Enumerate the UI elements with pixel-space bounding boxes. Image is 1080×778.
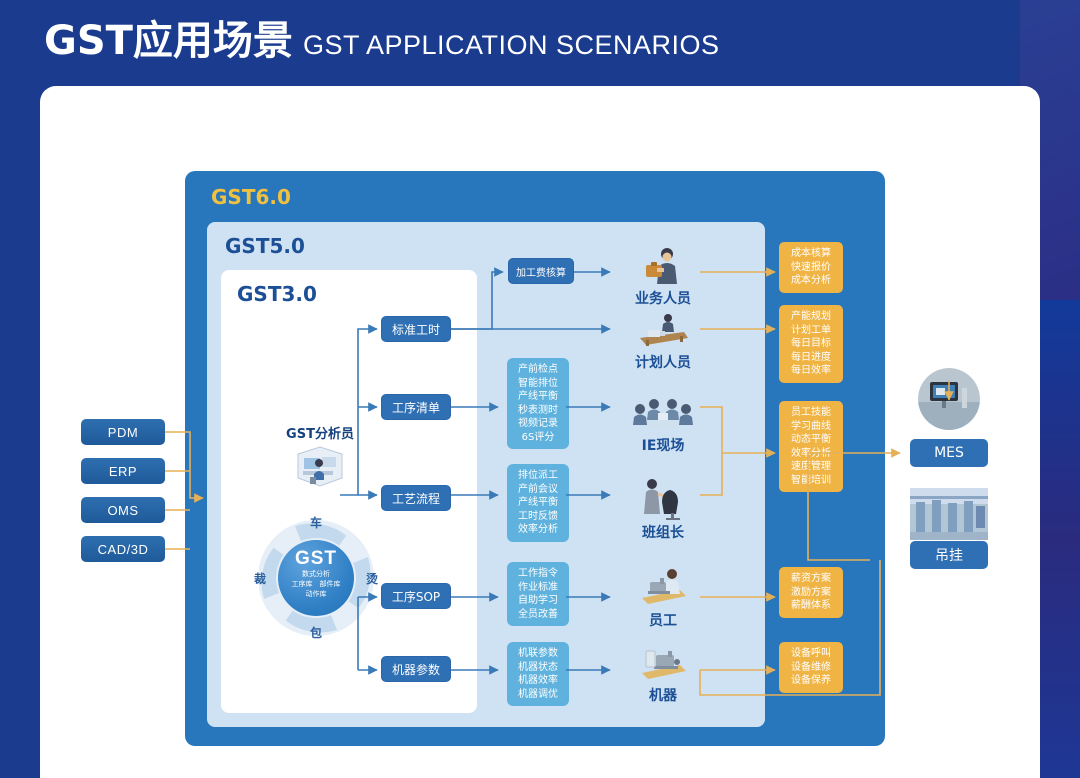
process-box-label: 加工费核算 <box>516 264 566 279</box>
output-box-cost[interactable]: 成本核算 快速报价 成本分析 <box>779 242 843 293</box>
panel-gst50-title: GST5.0 <box>225 234 305 258</box>
role-machine[interactable]: 机器 <box>618 641 708 705</box>
process-box-sop[interactable]: 工序SOP <box>381 583 451 609</box>
role-label: 业务人员 <box>618 288 708 308</box>
source-box-cad3d[interactable]: CAD/3D <box>81 536 165 562</box>
output-line: 快速报价 <box>781 261 841 275</box>
page-header: GST应用场景 GST APPLICATION SCENARIOS <box>44 8 720 74</box>
system-box-hanging[interactable]: 吊挂 <box>910 541 988 569</box>
output-line: 成本分析 <box>781 274 841 288</box>
feature-line: 产前检点 <box>509 363 567 377</box>
feature-box-employee[interactable]: 工作指令 作业标准 自助学习 全员改善 <box>507 562 569 626</box>
role-label: 计划人员 <box>618 352 708 372</box>
page-title-en: GST APPLICATION SCENARIOS <box>303 30 720 61</box>
source-box-pdm[interactable]: PDM <box>81 419 165 445</box>
process-box-process-list[interactable]: 工序清单 <box>381 394 451 420</box>
output-line: 速度管理 <box>781 460 841 474</box>
source-label: PDM <box>108 425 138 440</box>
gst-wheel-segment-top: 车 <box>310 514 322 531</box>
feature-line: 产线平衡 <box>509 390 567 404</box>
output-line: 薪酬体系 <box>781 599 841 613</box>
source-label: CAD/3D <box>98 542 149 557</box>
feature-line: 视频记录 <box>509 417 567 431</box>
feature-line: 机器状态 <box>509 661 567 675</box>
process-box-label: 工艺流程 <box>392 490 440 507</box>
output-line: 设备呼叫 <box>781 647 841 661</box>
role-label: 机器 <box>618 685 708 705</box>
output-line: 效率分析 <box>781 447 841 461</box>
sewing-machine-icon <box>618 641 708 683</box>
feature-box-ie[interactable]: 产前检点 智能排位 产线平衡 秒表测时 视频记录 6S评分 <box>507 358 569 449</box>
feature-line: 6S评分 <box>509 431 567 445</box>
role-label: IE现场 <box>618 435 708 455</box>
output-line: 每日目标 <box>781 337 841 351</box>
source-box-oms[interactable]: OMS <box>81 497 165 523</box>
role-ie-site[interactable]: IE现场 <box>618 391 708 455</box>
output-box-plan[interactable]: 产能规划 计划工单 每日目标 每日进度 每日效率 <box>779 305 843 383</box>
analyst-workstation-icon <box>290 444 350 490</box>
gst-wheel-core: GST 数式分析 工序库 部件库 动作库 <box>278 540 354 616</box>
output-line: 激励方案 <box>781 586 841 600</box>
feature-line: 秒表测时 <box>509 404 567 418</box>
source-label: OMS <box>107 503 138 518</box>
role-business-staff[interactable]: 业务人员 <box>618 244 708 308</box>
feature-line: 智能排位 <box>509 377 567 391</box>
feature-box-machine[interactable]: 机联参数 机器状态 机器效率 机器调优 <box>507 642 569 706</box>
process-box-standard-time[interactable]: 标准工时 <box>381 316 451 342</box>
role-team-leader[interactable]: 班组长 <box>618 478 708 542</box>
mannequin-person-icon <box>618 478 708 520</box>
feature-line: 全员改善 <box>509 608 567 622</box>
output-line: 薪资方案 <box>781 572 841 586</box>
panel-gst30-title: GST3.0 <box>237 282 317 306</box>
feature-line: 机器效率 <box>509 674 567 688</box>
output-line: 学习曲线 <box>781 420 841 434</box>
feature-line: 工作指令 <box>509 567 567 581</box>
sewing-worker-icon <box>618 566 708 608</box>
output-line: 每日进度 <box>781 351 841 365</box>
role-label: 员工 <box>618 610 708 630</box>
process-box-label: 机器参数 <box>392 661 440 678</box>
feature-line: 机联参数 <box>509 647 567 661</box>
output-box-salary[interactable]: 薪资方案 激励方案 薪酬体系 <box>779 567 843 618</box>
feature-line: 作业标准 <box>509 581 567 595</box>
feature-line: 工时反馈 <box>509 510 567 524</box>
process-box-label: 工序SOP <box>392 588 440 605</box>
output-line: 产能规划 <box>781 310 841 324</box>
system-label: 吊挂 <box>935 545 963 565</box>
source-box-erp[interactable]: ERP <box>81 458 165 484</box>
hanging-line-photo <box>910 488 988 540</box>
output-line: 智能培训 <box>781 474 841 488</box>
feature-line: 机器调优 <box>509 688 567 702</box>
output-box-equipment[interactable]: 设备呼叫 设备维修 设备保养 <box>779 642 843 693</box>
analyst-block: GST分析员 <box>265 423 375 495</box>
gst-wheel-segment-bottom: 包 <box>310 624 322 641</box>
gst-wheel-segment-right: 烫 <box>366 570 378 587</box>
feature-line: 产前会议 <box>509 483 567 497</box>
process-box-craft-flow[interactable]: 工艺流程 <box>381 485 451 511</box>
feature-line: 产线平衡 <box>509 496 567 510</box>
role-label: 班组长 <box>618 522 708 542</box>
briefcase-person-icon <box>618 244 708 286</box>
output-line: 动态平衡 <box>781 433 841 447</box>
feature-line: 效率分析 <box>509 523 567 537</box>
gst-wheel-item: 部件库 <box>320 579 341 589</box>
output-box-skill[interactable]: 员工技能 学习曲线 动态平衡 效率分析 速度管理 智能培训 <box>779 401 843 492</box>
system-label: MES <box>934 445 964 461</box>
process-box-label: 标准工时 <box>392 321 440 338</box>
analyst-label: GST分析员 <box>265 423 375 442</box>
output-line: 员工技能 <box>781 406 841 420</box>
feature-line: 自助学习 <box>509 594 567 608</box>
gst-wheel-item: 动作库 <box>306 589 327 599</box>
role-planning-staff[interactable]: 计划人员 <box>618 308 708 372</box>
feature-box-teamleader[interactable]: 排位派工 产前会议 产线平衡 工时反馈 效率分析 <box>507 464 569 542</box>
output-line: 设备保养 <box>781 674 841 688</box>
process-box-label: 工序清单 <box>392 399 440 416</box>
role-employee[interactable]: 员工 <box>618 566 708 630</box>
system-box-mes[interactable]: MES <box>910 439 988 467</box>
source-label: ERP <box>109 464 137 479</box>
page-title-cn: GST应用场景 <box>44 8 293 66</box>
desk-person-icon <box>618 308 708 350</box>
content-card: PDM ERP OMS CAD/3D GST6.0 GST5.0 GST3.0 … <box>40 86 1040 778</box>
gst-wheel-segment-left: 裁 <box>254 570 266 587</box>
gst-wheel-subtitle: 数式分析 <box>278 569 354 579</box>
gst-wheel-item: 工序库 <box>292 579 313 589</box>
factory-terminal-photo <box>918 368 980 430</box>
output-line: 设备维修 <box>781 661 841 675</box>
panel-gst60-title: GST6.0 <box>211 185 291 209</box>
gst-wheel-title: GST <box>278 540 354 569</box>
meeting-group-icon <box>618 391 708 433</box>
feature-line: 排位派工 <box>509 469 567 483</box>
output-line: 成本核算 <box>781 247 841 261</box>
output-line: 计划工单 <box>781 324 841 338</box>
output-line: 每日效率 <box>781 364 841 378</box>
process-box-processing-cost[interactable]: 加工费核算 <box>508 258 574 284</box>
process-box-machine-params[interactable]: 机器参数 <box>381 656 451 682</box>
gst-wheel: GST 数式分析 工序库 部件库 动作库 车 烫 包 裁 <box>256 518 376 638</box>
